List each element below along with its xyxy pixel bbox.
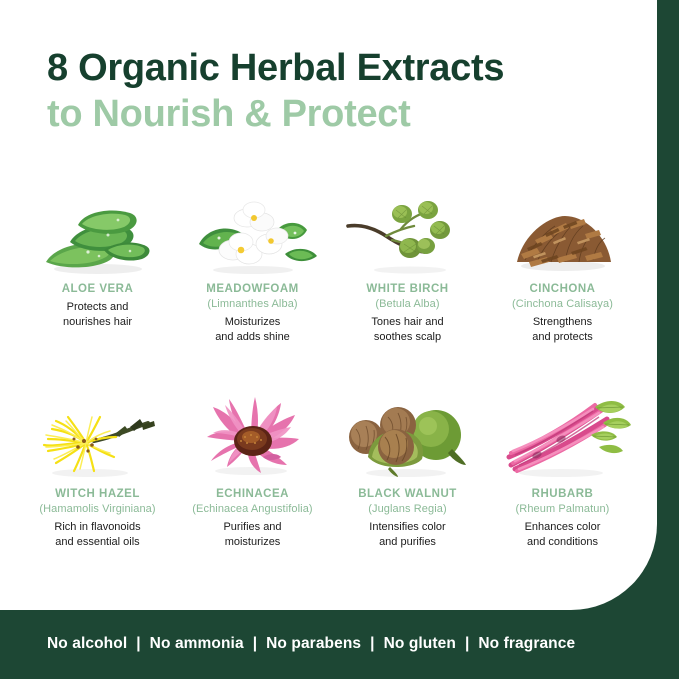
infographic-poster: 8 Organic Herbal Extracts to Nourish & P… [0,0,679,679]
claim-no-alcohol: No alcohol [47,635,127,653]
extract-description-line2: moisturizes [225,535,281,551]
extract-description-line1: Enhances color [525,520,601,536]
claim-no-parabens: No parabens [266,635,361,653]
extract-description-line1: Moisturizes [225,315,281,331]
extract-name: CINCHONA [530,282,596,297]
extract-description-line1: Protects and [67,300,129,316]
claim-separator: | [127,635,149,653]
title-primary-line: 8 Organic Herbal Extracts [47,46,627,91]
extract-scientific-name: (Juglans Regia) [368,502,447,517]
extract-scientific-name: (Cinchona Calisaya) [512,297,613,312]
extract-description-line2: and adds shine [215,330,290,346]
extract-card-cinchona: CINCHONA (Cinchona Calisaya) Strengthens… [485,190,640,395]
claims-band: No alcohol | No ammonia | No parabens | … [0,608,679,679]
extract-card-witch-hazel: WITCH HAZEL (Hamamolis Virginiana) Rich … [20,395,175,600]
extract-description-line2: and conditions [527,535,598,551]
claim-no-gluten: No gluten [384,635,456,653]
page-title: 8 Organic Herbal Extracts to Nourish & P… [47,46,627,137]
extract-name: MEADOWFOAM [206,282,299,297]
rhubarb-illustration [495,395,631,481]
extract-scientific-name: (Rheum Palmatun) [516,502,610,517]
claim-separator: | [361,635,383,653]
extract-description-line2: and purifies [379,535,436,551]
extract-description-line2: soothes scalp [374,330,441,346]
extract-name: ECHINACEA [216,487,289,502]
extract-description-line1: Purifies and [223,520,281,536]
extract-description-line1: Intensifies color [369,520,445,536]
echinacea-illustration [185,395,321,481]
extract-scientific-name: (Hamamolis Virginiana) [39,502,155,517]
aloe-vera-illustration [30,190,166,276]
extract-name: WITCH HAZEL [55,487,140,502]
title-secondary-line: to Nourish & Protect [47,91,627,137]
black-walnut-illustration [340,395,476,481]
cinchona-illustration [495,190,631,276]
extract-card-rhubarb: RHUBARB (Rheum Palmatun) Enhances color … [485,395,640,600]
extract-scientific-name: (Echinacea Angustifolia) [192,502,312,517]
extract-card-white-birch: WHITE BIRCH (Betula Alba) Tones hair and… [330,190,485,395]
extract-description-line1: Rich in flavonoids [54,520,140,536]
extract-scientific-name: (Betula Alba) [375,297,439,312]
witch-hazel-illustration [30,395,166,481]
extract-description-line2: and essential oils [55,535,139,551]
extract-description-line2: nourishes hair [63,315,132,331]
claims-list: No alcohol | No ammonia | No parabens | … [47,635,575,653]
extract-name: RHUBARB [532,487,594,502]
extract-card-black-walnut: BLACK WALNUT (Juglans Regia) Intensifies… [330,395,485,600]
meadowfoam-illustration [185,190,321,276]
extract-card-echinacea: ECHINACEA (Echinacea Angustifolia) Purif… [175,395,330,600]
extracts-grid: ALOE VERA Protects and nourishes hair [20,190,640,600]
extract-card-aloe-vera: ALOE VERA Protects and nourishes hair [20,190,175,395]
extract-description-line2: and protects [532,330,593,346]
white-birch-illustration [340,190,476,276]
claim-no-fragrance: No fragrance [478,635,575,653]
extract-card-meadowfoam: MEADOWFOAM (Limnanthes Alba) Moisturizes… [175,190,330,395]
extract-description-line1: Strengthens [533,315,592,331]
extract-name: ALOE VERA [62,282,134,297]
claim-separator: | [456,635,478,653]
claim-separator: | [244,635,266,653]
extract-scientific-name: (Limnanthes Alba) [207,297,297,312]
extract-name: WHITE BIRCH [366,282,448,297]
extract-name: BLACK WALNUT [358,487,457,502]
extract-description-line1: Tones hair and [371,315,443,331]
claim-no-ammonia: No ammonia [150,635,244,653]
